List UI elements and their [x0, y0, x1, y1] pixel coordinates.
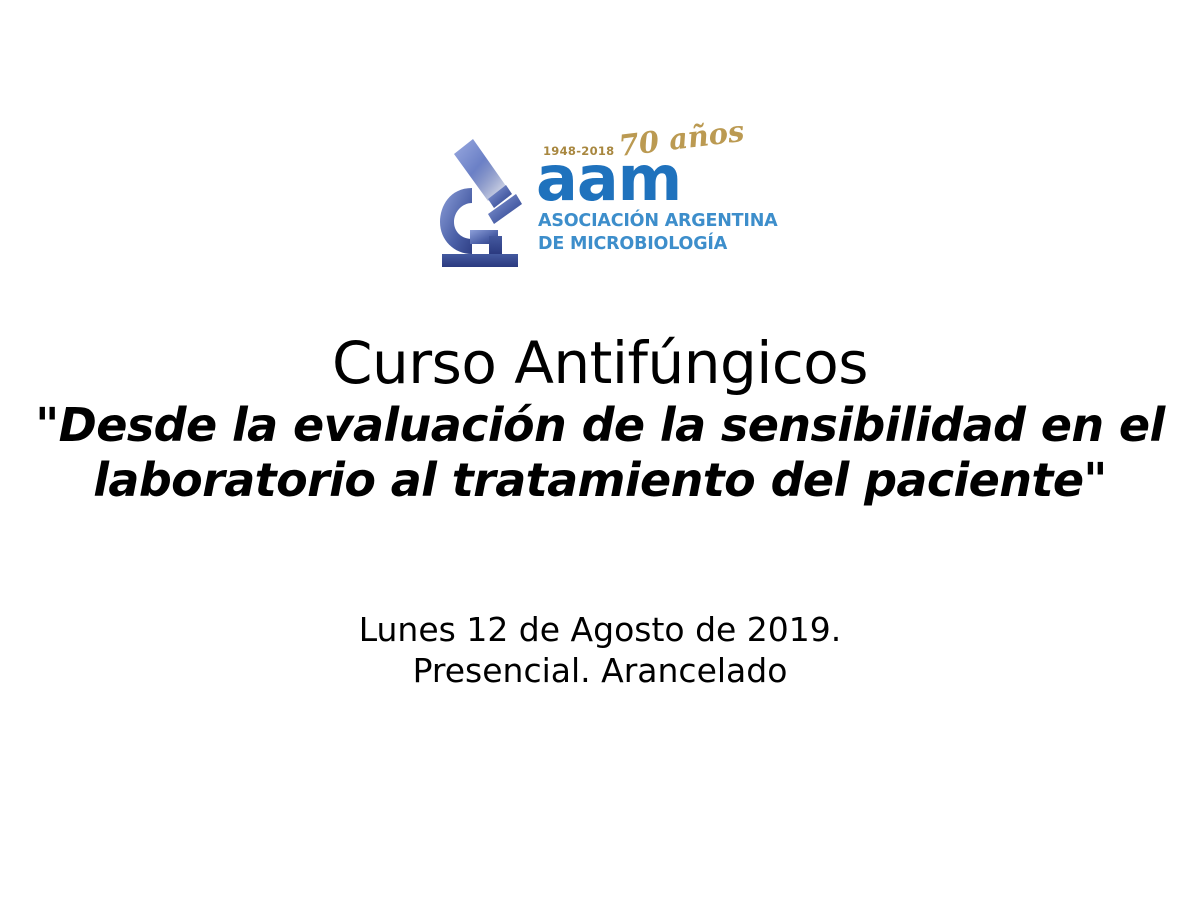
presentation-slide: 1948-2018 70 años aam ASOCIACIÓN ARGENTI… — [0, 0, 1200, 900]
event-details: Lunes 12 de Agosto de 2019. Presencial. … — [0, 609, 1200, 691]
page-subtitle-line1: "Desde la evaluación de la sensibilidad … — [0, 398, 1200, 453]
logo-acronym: aam — [536, 148, 681, 210]
logo-text-column: 1948-2018 70 años aam ASOCIACIÓN ARGENTI… — [536, 132, 768, 270]
logo-organization-line1: ASOCIACIÓN ARGENTINA — [538, 210, 778, 233]
logo-organization-name: ASOCIACIÓN ARGENTINA DE MICROBIOLOGÍA — [538, 210, 778, 256]
aam-logo: 1948-2018 70 años aam ASOCIACIÓN ARGENTI… — [432, 132, 768, 270]
logo-organization-line2: DE MICROBIOLOGÍA — [538, 233, 778, 256]
title-block: Curso Antifúngicos "Desde la evaluación … — [0, 330, 1200, 508]
page-subtitle: "Desde la evaluación de la sensibilidad … — [0, 398, 1200, 508]
page-subtitle-line2: laboratorio al tratamiento del paciente" — [0, 453, 1200, 508]
event-date: Lunes 12 de Agosto de 2019. — [0, 609, 1200, 650]
microscope-icon — [432, 136, 528, 268]
event-modality: Presencial. Arancelado — [0, 650, 1200, 691]
page-title: Curso Antifúngicos — [0, 330, 1200, 396]
